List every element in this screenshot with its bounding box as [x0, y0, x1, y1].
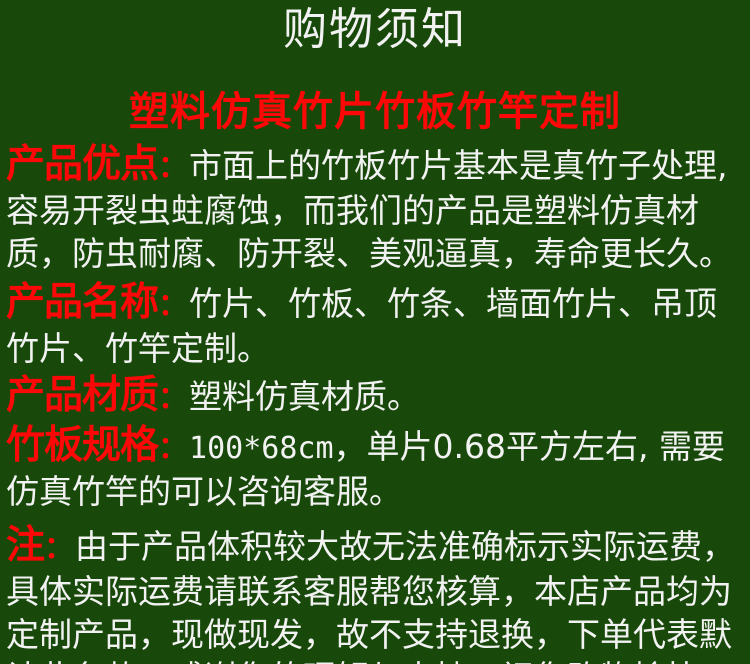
section-material-body: 塑料仿真材质。: [189, 377, 420, 416]
section-advantages: 产品优点：市面上的竹板竹片基本是真竹子处理, 容易开裂虫蛀腐蚀，而我们的产品是塑…: [6, 143, 746, 275]
section-note-colon: ：: [44, 531, 75, 566]
section-note-label: 注: [6, 523, 44, 568]
section-material: 产品材质：塑料仿真材质。: [6, 374, 746, 420]
notice-sections: 产品优点：市面上的竹板竹片基本是真竹子处理, 容易开裂虫蛀腐蚀，而我们的产品是塑…: [6, 143, 746, 664]
product-subtitle: 塑料仿真竹片竹板竹竿定制: [0, 89, 750, 135]
section-size-colon: ：: [158, 431, 189, 466]
section-size: 竹板规格：100*68cm，单片0.68平方左右, 需要仿真竹竿的可以咨询客服。: [6, 424, 746, 513]
section-product-name: 产品名称：竹片、竹板、竹条、墙面竹片、吊顶竹片、竹竿定制。: [6, 281, 746, 370]
section-product-name-colon: ：: [158, 288, 189, 323]
section-material-colon: ：: [158, 381, 189, 416]
section-size-label: 竹板规格: [6, 423, 158, 468]
section-advantages-colon: ：: [158, 150, 189, 185]
section-note-body: 由于产品体积较大故无法准确标示实际运费，具体实际运费请联系客服帮您核算，本店产品…: [6, 527, 735, 664]
shopping-notice-banner: 购物须知 塑料仿真竹片竹板竹竿定制 产品优点：市面上的竹板竹片基本是真竹子处理,…: [0, 0, 750, 664]
section-note: 注：由于产品体积较大故无法准确标示实际运费，具体实际运费请联系客服帮您核算，本店…: [6, 524, 746, 664]
section-material-label: 产品材质: [6, 373, 158, 418]
section-advantages-label: 产品优点: [6, 142, 158, 187]
page-title: 购物须知: [0, 4, 750, 56]
section-size-dimensions: 100*68cm: [189, 431, 334, 466]
section-product-name-label: 产品名称: [6, 280, 158, 325]
